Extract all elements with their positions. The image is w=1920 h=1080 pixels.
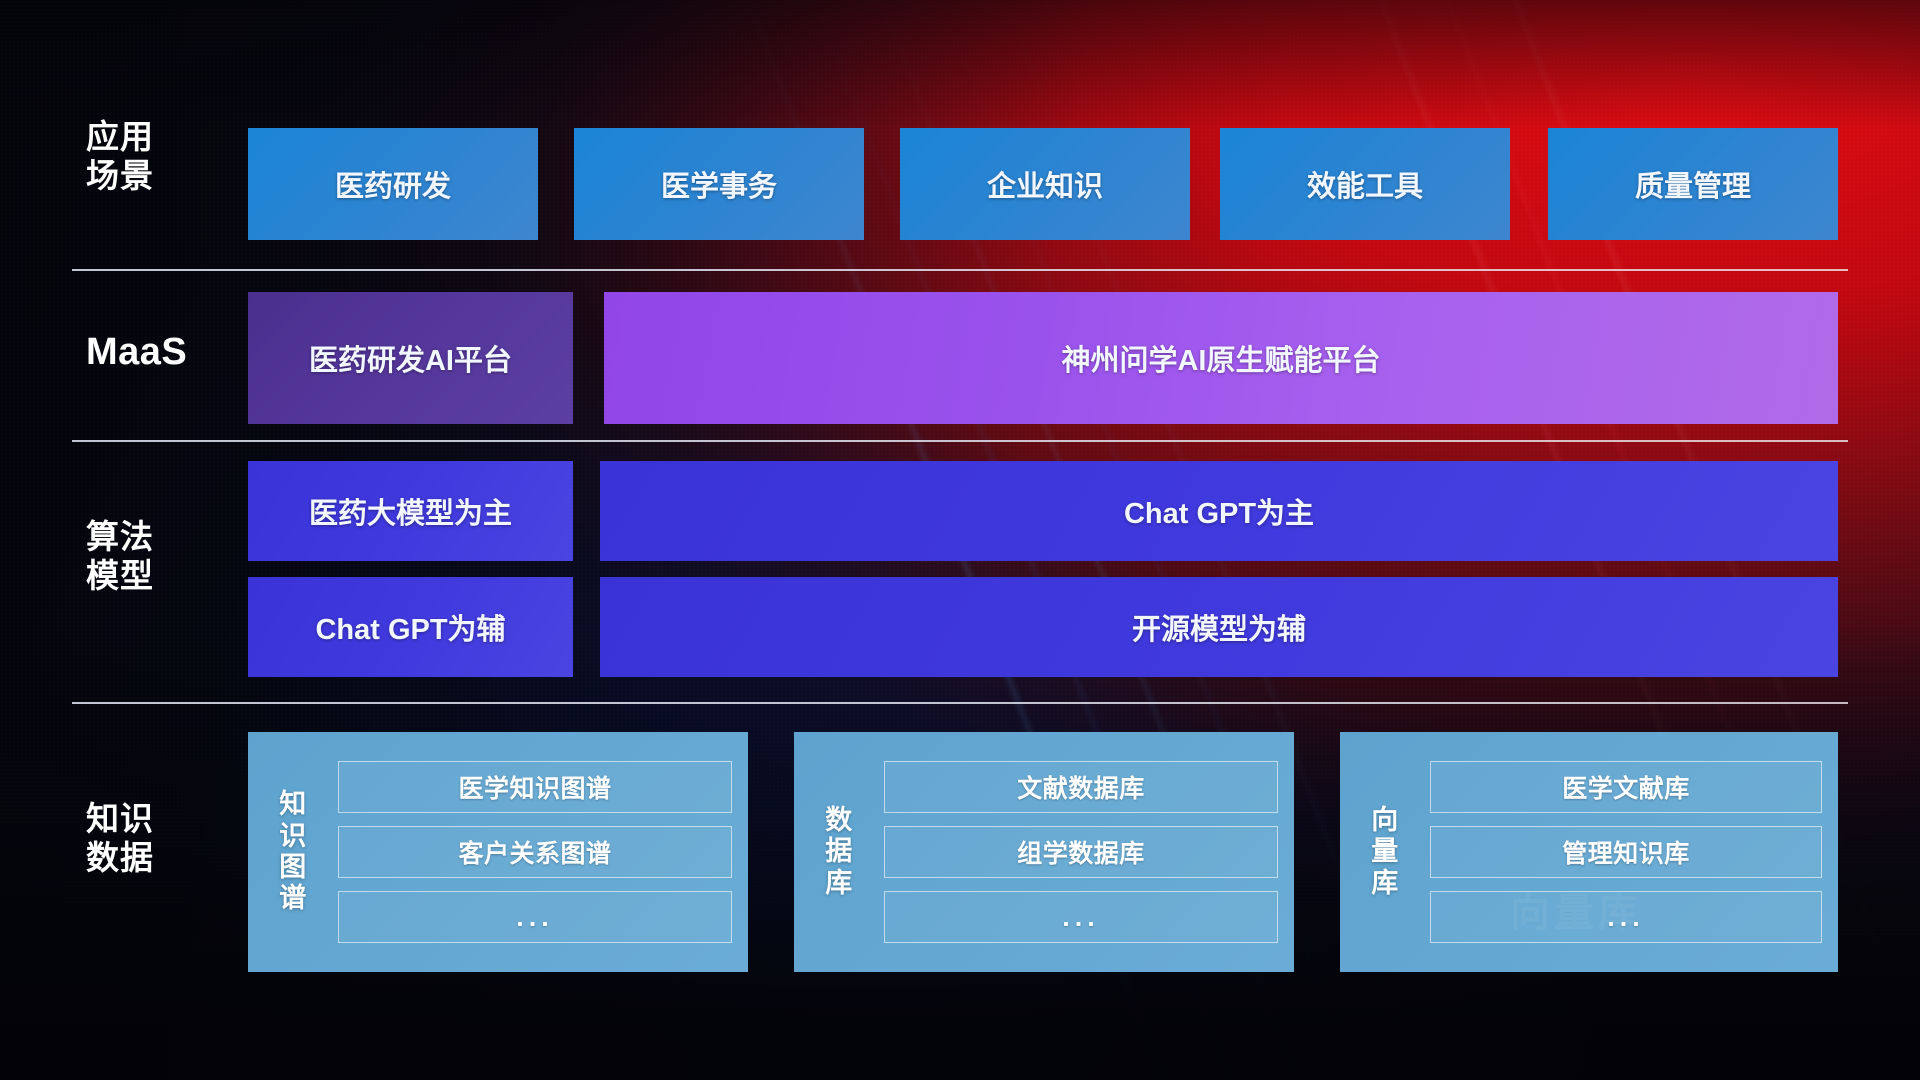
knowledge-panel-database-title: 数据库 — [808, 805, 870, 899]
row-label-application-line2: 场景 — [86, 157, 226, 196]
knowledge-item-medical-literature[interactable]: 医学文献库 — [1430, 761, 1822, 813]
divider-application-maas — [72, 269, 1848, 271]
app-card-5[interactable]: 质量管理 — [1548, 128, 1838, 240]
algo-card-pharma-main[interactable]: 医药大模型为主 — [248, 461, 573, 561]
row-label-application-line1: 应用 — [86, 118, 226, 157]
row-label-algorithm: 算法 模型 — [86, 518, 226, 596]
slide-canvas: 应用 场景 医药研发 医学事务 企业知识 效能工具 质量管理 MaaS 医药研发… — [0, 0, 1920, 1080]
knowledge-item-literature-db[interactable]: 文献数据库 — [884, 761, 1278, 813]
row-label-maas: MaaS — [86, 330, 226, 375]
knowledge-panel-graph[interactable]: 知识图谱 医学知识图谱 客户关系图谱 ... — [248, 732, 748, 972]
knowledge-panel-vector-title: 向量库 — [1354, 805, 1416, 899]
knowledge-panel-graph-title: 知识图谱 — [262, 789, 324, 914]
knowledge-panel-vector[interactable]: 向量库 医学文献库 管理知识库 ... — [1340, 732, 1838, 972]
row-label-algorithm-line1: 算法 — [86, 518, 226, 557]
app-card-1[interactable]: 医药研发 — [248, 128, 538, 240]
app-card-4[interactable]: 效能工具 — [1220, 128, 1510, 240]
divider-maas-algorithm — [72, 440, 1848, 442]
row-label-knowledge-line2: 数据 — [86, 839, 226, 878]
row-label-application: 应用 场景 — [86, 118, 226, 196]
algo-card-chatgpt-aux[interactable]: Chat GPT为辅 — [248, 577, 573, 677]
maas-card-shenzhou-platform[interactable]: 神州问学AI原生赋能平台 — [604, 292, 1838, 424]
app-card-3[interactable]: 企业知识 — [900, 128, 1190, 240]
divider-algorithm-knowledge — [72, 702, 1848, 704]
knowledge-panel-graph-items: 医学知识图谱 客户关系图谱 ... — [338, 761, 732, 943]
algo-card-chatgpt-main[interactable]: Chat GPT为主 — [600, 461, 1838, 561]
knowledge-panel-database[interactable]: 数据库 文献数据库 组学数据库 ... — [794, 732, 1294, 972]
knowledge-item-vector-more[interactable]: ... — [1430, 891, 1822, 943]
knowledge-item-management-knowledge[interactable]: 管理知识库 — [1430, 826, 1822, 878]
knowledge-panel-database-items: 文献数据库 组学数据库 ... — [884, 761, 1278, 943]
knowledge-item-omics-db[interactable]: 组学数据库 — [884, 826, 1278, 878]
knowledge-panel-vector-items: 医学文献库 管理知识库 ... — [1430, 761, 1822, 943]
knowledge-item-customer-graph[interactable]: 客户关系图谱 — [338, 826, 732, 878]
knowledge-item-medical-graph[interactable]: 医学知识图谱 — [338, 761, 732, 813]
row-label-knowledge: 知识 数据 — [86, 800, 226, 878]
app-card-2[interactable]: 医学事务 — [574, 128, 864, 240]
row-label-algorithm-line2: 模型 — [86, 557, 226, 596]
row-label-knowledge-line1: 知识 — [86, 800, 226, 839]
knowledge-item-graph-more[interactable]: ... — [338, 891, 732, 943]
knowledge-item-database-more[interactable]: ... — [884, 891, 1278, 943]
algo-card-opensource-aux[interactable]: 开源模型为辅 — [600, 577, 1838, 677]
maas-card-pharma-platform[interactable]: 医药研发AI平台 — [248, 292, 573, 424]
